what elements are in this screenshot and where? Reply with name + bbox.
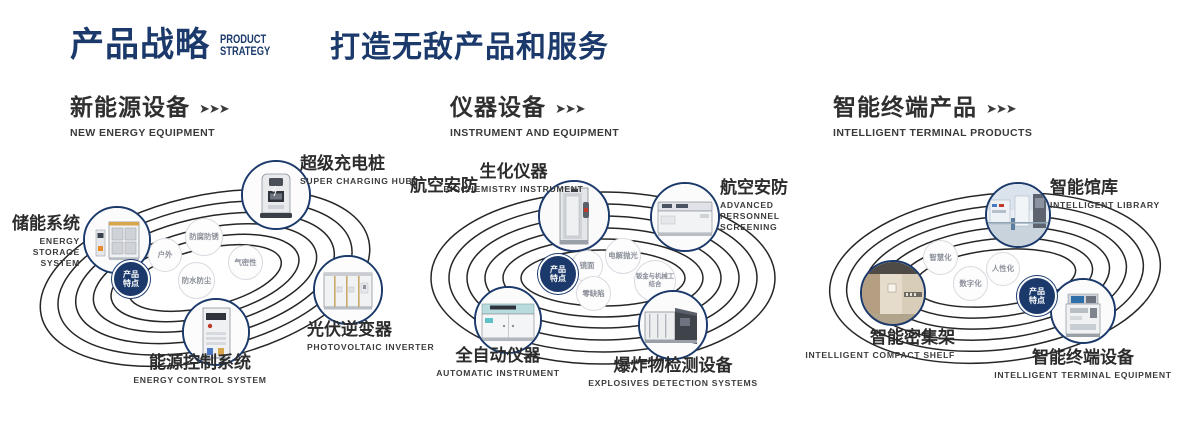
- feature-bubble: 智慧化: [923, 240, 958, 275]
- feature-bubble: 防水防尘: [178, 262, 215, 299]
- caption-automatic-instrument: 全自动仪器 AUTOMATIC INSTRUMENT: [388, 348, 608, 379]
- section-title-en: NEW ENERGY EQUIPMENT: [70, 127, 229, 139]
- feature-label: 电解抛光: [608, 251, 638, 260]
- node-intelligent-terminal-equipment[interactable]: [1050, 278, 1116, 344]
- caption-intelligent-terminal-equipment: 智能终端设备 INTELLIGENT TERMINAL EQUIPMENT: [973, 350, 1193, 381]
- caption-en: ENERGY STORAGE SYSTEM: [0, 236, 80, 270]
- explosive-detector-icon: [640, 292, 706, 358]
- node-photovoltaic-inverter[interactable]: [313, 255, 383, 325]
- caption-cn: 全自动仪器: [388, 348, 608, 366]
- caption-cn: 智能终端设备: [973, 350, 1193, 368]
- feature-label: 人性化: [992, 264, 1014, 273]
- library-room-icon: [987, 184, 1049, 246]
- caption-intelligent-compact-shelf: 智能密集架 INTELLIGENT COMPACT SHELF: [795, 330, 955, 361]
- caption-en: INTELLIGENT TERMINAL EQUIPMENT: [973, 370, 1193, 381]
- node-explosives-detection-systems[interactable]: [638, 290, 708, 360]
- feature-label: 钣金与机械工结合: [635, 273, 675, 289]
- inverter-cabinet-icon: [315, 257, 381, 323]
- caption-cn: 智能密集架: [795, 330, 955, 348]
- caption-en: AUTOMATIC INSTRUMENT: [388, 368, 608, 379]
- caption-energy-storage-system: 储能系统 ENERGY STORAGE SYSTEM: [0, 216, 80, 269]
- feature-label: 防腐防锈: [189, 232, 219, 241]
- feature-bubble: 户外: [148, 238, 182, 272]
- section-title-cn: 新能源设备: [70, 97, 190, 120]
- center-badge-line1: 产品: [550, 265, 566, 274]
- cluster-new-energy: 防腐防锈 户外 防水防尘 气密性 产品 特点: [0, 150, 420, 400]
- feature-label: 数字化: [959, 279, 981, 288]
- section-heading-new-energy: 新能源设备 ➤➤➤ NEW ENERGY EQUIPMENT: [70, 97, 229, 139]
- feature-bubble: 防腐防锈: [185, 218, 223, 256]
- section-title-en: INTELLIGENT TERMINAL PRODUCTS: [833, 127, 1032, 139]
- section-heading-intelligent-terminal: 智能终端产品 ➤➤➤ INTELLIGENT TERMINAL PRODUCTS: [833, 97, 1032, 139]
- feature-label: 防水防尘: [182, 276, 212, 285]
- center-badge-line1: 产品: [123, 270, 139, 279]
- poster-canvas: 产品战略 PRODUCT STRATEGY 打造无敌产品和服务 新能源设备 ➤➤…: [0, 0, 1200, 422]
- caption-super-charging-hub: 超级充电桩 SUPER CHARGING HUB: [300, 156, 412, 187]
- feature-label: 零缺陷: [582, 289, 604, 298]
- caption-cn: 智能馆库: [1050, 180, 1160, 198]
- center-badge-line2: 特点: [1029, 296, 1045, 305]
- section-title-cn: 智能终端产品: [833, 97, 977, 120]
- auto-analyzer-icon: [476, 288, 540, 352]
- caption-cn: 能源控制系统: [80, 355, 320, 373]
- feature-bubble: 人性化: [986, 252, 1020, 286]
- feature-bubble: 气密性: [228, 245, 263, 280]
- feature-label: 户外: [158, 250, 173, 259]
- node-advanced-personnel-screening[interactable]: [650, 182, 720, 252]
- section-title-cn: 仪器设备: [450, 97, 546, 120]
- caption-cn: 储能系统: [0, 216, 80, 234]
- feature-label: 镜面: [580, 261, 595, 270]
- cluster-intelligent-terminal: 智慧化 数字化 人性化 产品 特点: [795, 150, 1200, 400]
- center-badge-line2: 特点: [123, 279, 139, 288]
- page-subtitle: 打造无敌产品和服务: [330, 33, 609, 63]
- caption-en: EXPLOSIVES DETECTION SYSTEMS: [553, 378, 793, 389]
- center-badge: 产品 特点: [1017, 276, 1057, 316]
- screening-machine-icon: [652, 184, 718, 250]
- header-title-group: 产品战略 PRODUCT STRATEGY: [70, 28, 284, 62]
- page-title-en-line2: STRATEGY: [220, 44, 270, 58]
- chevron-right-icon: ➤➤➤: [199, 98, 229, 120]
- feature-bubble: 电解抛光: [605, 238, 641, 274]
- feature-bubble: 数字化: [953, 266, 988, 301]
- caption-intelligent-library: 智能馆库 INTELLIGENT LIBRARY: [1050, 180, 1160, 211]
- compact-shelf-icon: [862, 262, 924, 324]
- feature-label: 智慧化: [929, 253, 951, 262]
- center-badge-line1: 产品: [1029, 287, 1045, 296]
- caption-en: INTELLIGENT COMPACT SHELF: [795, 350, 955, 361]
- caption-en: INTELLIGENT LIBRARY: [1050, 200, 1160, 211]
- node-intelligent-library[interactable]: [985, 182, 1051, 248]
- caption-en: ENERGY CONTROL SYSTEM: [80, 375, 320, 386]
- page-title: 产品战略: [70, 28, 210, 62]
- section-title-en: INSTRUMENT AND EQUIPMENT: [450, 127, 619, 139]
- node-automatic-instrument[interactable]: [474, 286, 542, 354]
- caption-en: SUPER CHARGING HUB: [300, 176, 412, 187]
- center-badge: 产品 特点: [112, 260, 150, 298]
- caption-aviation-security-extra: 航空安防: [410, 178, 478, 196]
- feature-label: 气密性: [234, 258, 256, 267]
- center-badge: 产品 特点: [538, 254, 578, 294]
- page-title-en: PRODUCT STRATEGY: [220, 33, 270, 57]
- caption-cn: 超级充电桩: [300, 156, 412, 174]
- caption-cn: 航空安防: [410, 178, 478, 196]
- terminal-kiosk-icon: [1052, 280, 1114, 342]
- chevron-right-icon: ➤➤➤: [986, 98, 1016, 120]
- caption-energy-control-system: 能源控制系统 ENERGY CONTROL SYSTEM: [80, 355, 320, 386]
- feature-bubble: 零缺陷: [576, 276, 611, 311]
- section-heading-instrument: 仪器设备 ➤➤➤ INSTRUMENT AND EQUIPMENT: [450, 97, 619, 139]
- node-intelligent-compact-shelf[interactable]: [860, 260, 926, 326]
- center-badge-line2: 特点: [550, 274, 566, 283]
- cluster-instrument: 镜面 电解抛光 零缺陷 钣金与机械工结合 产品 特点: [398, 150, 818, 400]
- chevron-right-icon: ➤➤➤: [555, 98, 585, 120]
